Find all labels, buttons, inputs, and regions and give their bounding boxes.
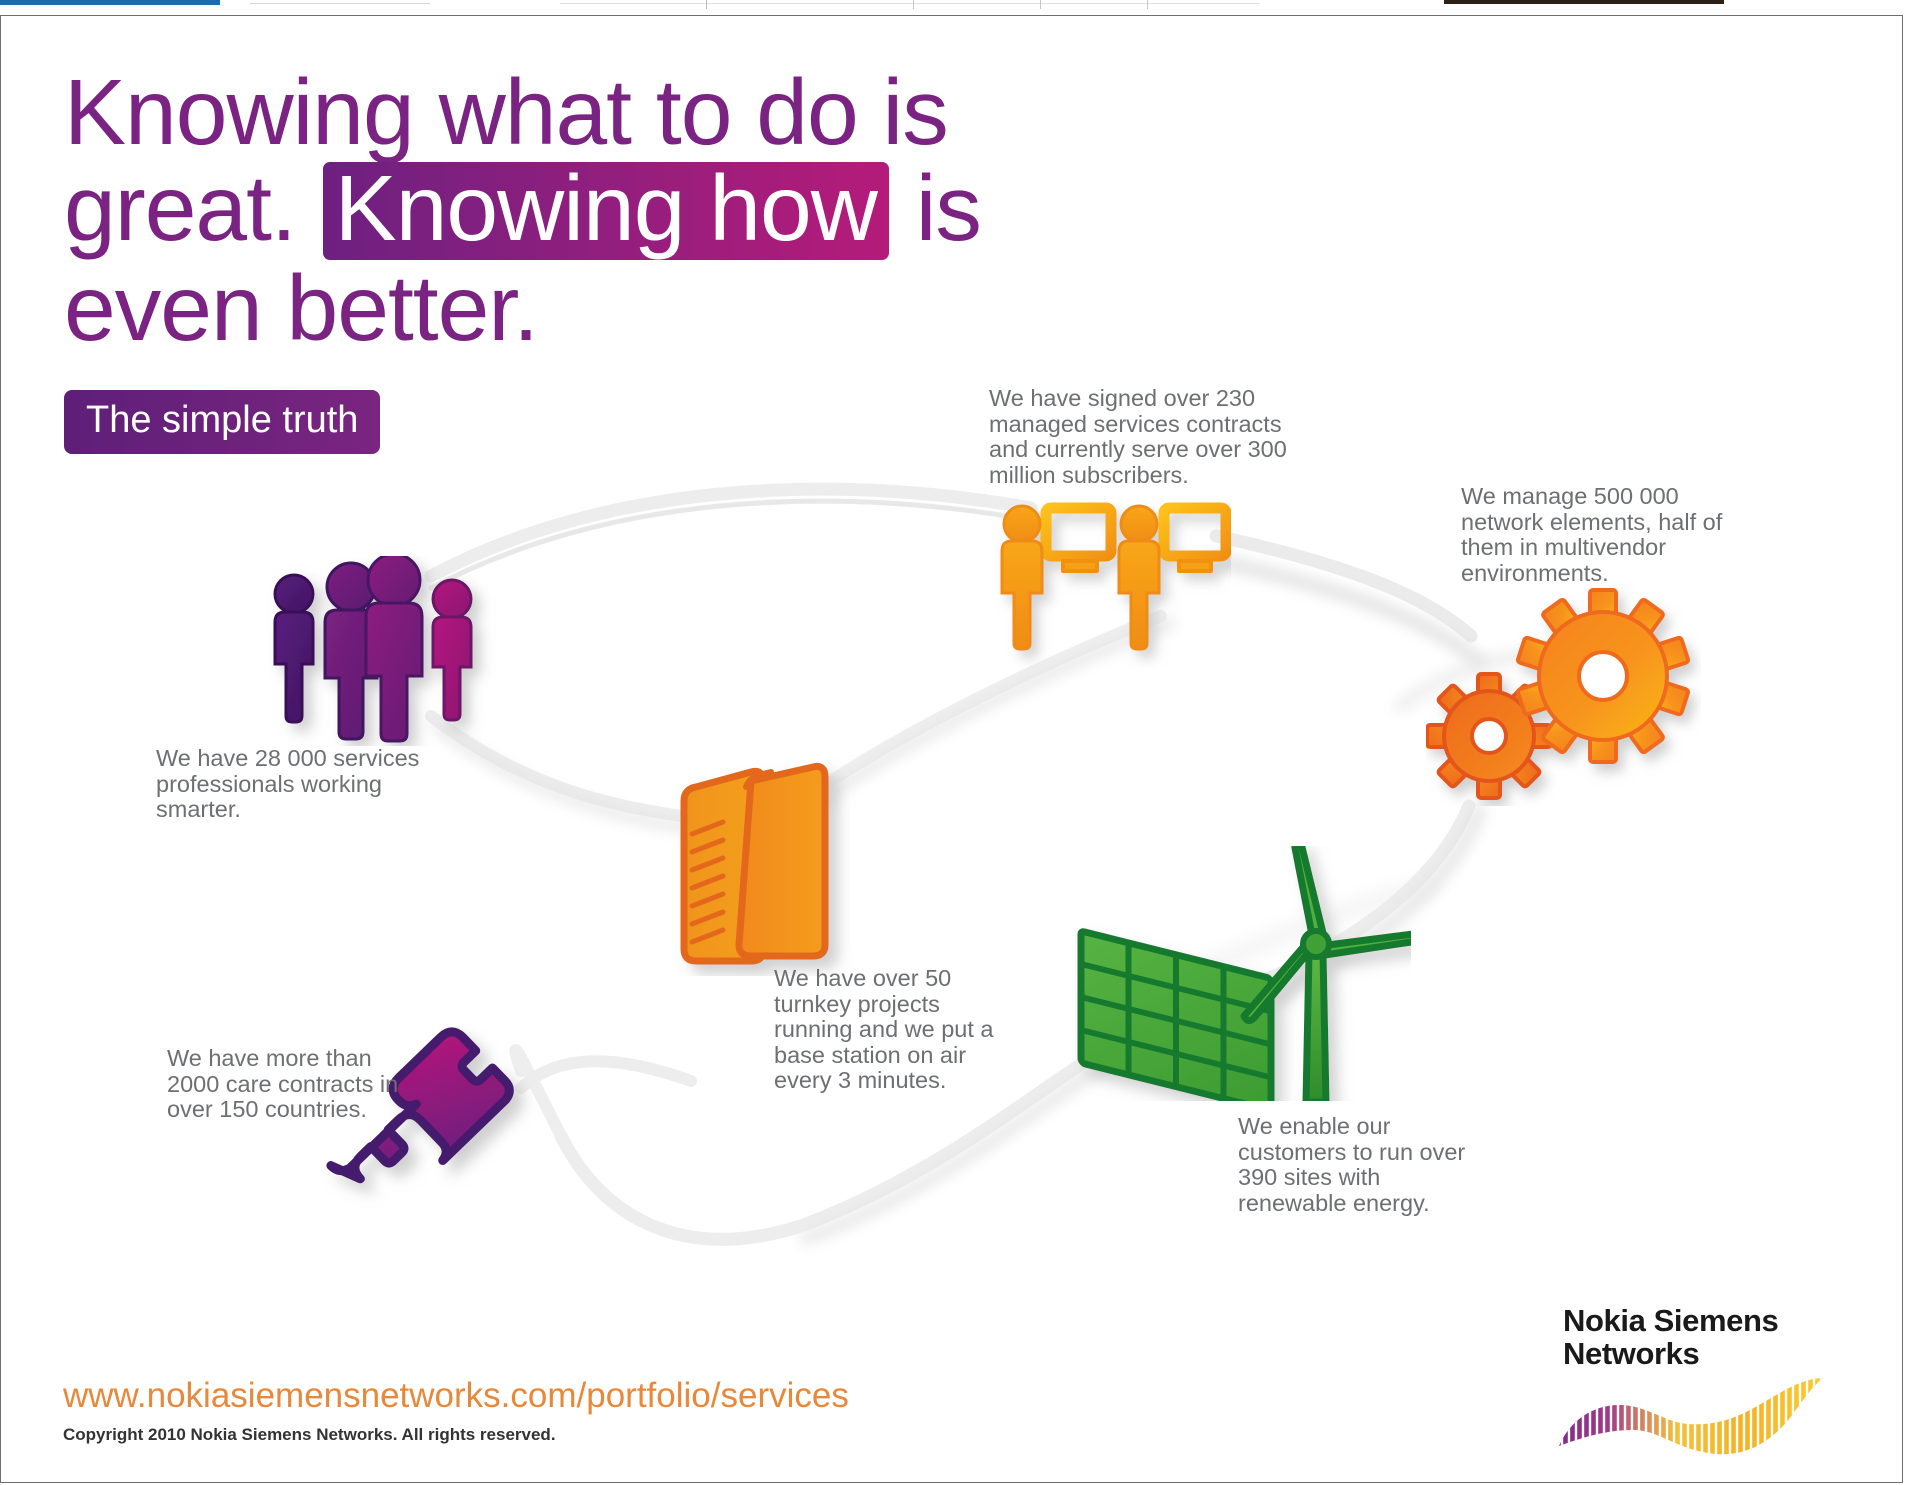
browser-chrome-tick-4 — [1147, 0, 1148, 9]
people-with-screens-icon — [991, 501, 1231, 671]
base-station-cabinet-icon — [666, 756, 866, 976]
headline-line-3: even better. — [64, 256, 538, 360]
headline-line-2-prefix: great. — [64, 156, 296, 260]
infographic-poster: Knowing what to do is great. Knowing how… — [0, 15, 1903, 1483]
callout-network-elements: We manage 500 000 network elements, half… — [1461, 484, 1761, 586]
headline-line-1: Knowing what to do is — [64, 60, 948, 164]
browser-toolbar-dark-segment — [1444, 0, 1724, 4]
logo-line-2: Networks — [1563, 1337, 1778, 1370]
logo-line-1: Nokia Siemens — [1563, 1304, 1778, 1337]
callout-turnkey-projects: We have over 50 turnkey projects running… — [774, 966, 1004, 1094]
gears-icon — [1426, 581, 1701, 806]
browser-chrome-strip — [0, 0, 1905, 14]
headline-highlight: Knowing how — [323, 162, 889, 260]
browser-chrome-tick-3 — [1040, 0, 1041, 9]
website-url-link[interactable]: www.nokiasiemensnetworks.com/portfolio/s… — [63, 1377, 849, 1415]
callout-care-contracts: We have more than 2000 care contracts in… — [167, 1046, 407, 1123]
browser-active-tab-indicator[interactable] — [0, 0, 220, 5]
browser-chrome-tick-1 — [706, 0, 707, 9]
browser-chrome-divider-center — [560, 3, 1260, 4]
callout-managed-services: We have signed over 230 managed services… — [989, 386, 1294, 488]
people-group-icon — [263, 556, 503, 746]
solar-panel-wind-turbine-icon — [1071, 846, 1411, 1101]
headline-line-2-suffix: is — [916, 156, 981, 260]
simple-truth-badge: The simple truth — [64, 390, 380, 454]
browser-chrome-tick-2 — [913, 0, 914, 9]
callout-services-professionals: We have 28 000 services professionals wo… — [156, 746, 436, 823]
copyright-notice: Copyright 2010 Nokia Siemens Networks. A… — [63, 1425, 556, 1444]
browser-chrome-divider-left — [250, 3, 430, 4]
logo-wordmark: Nokia Siemens Networks — [1563, 1304, 1778, 1370]
nokia-siemens-networks-logo: Nokia Siemens Networks — [1563, 1304, 1863, 1454]
logo-wave-mark — [1553, 1374, 1863, 1456]
page-title: Knowing what to do is great. Knowing how… — [64, 64, 1244, 356]
callout-renewable-energy: We enable our customers to run over 390 … — [1238, 1114, 1473, 1216]
